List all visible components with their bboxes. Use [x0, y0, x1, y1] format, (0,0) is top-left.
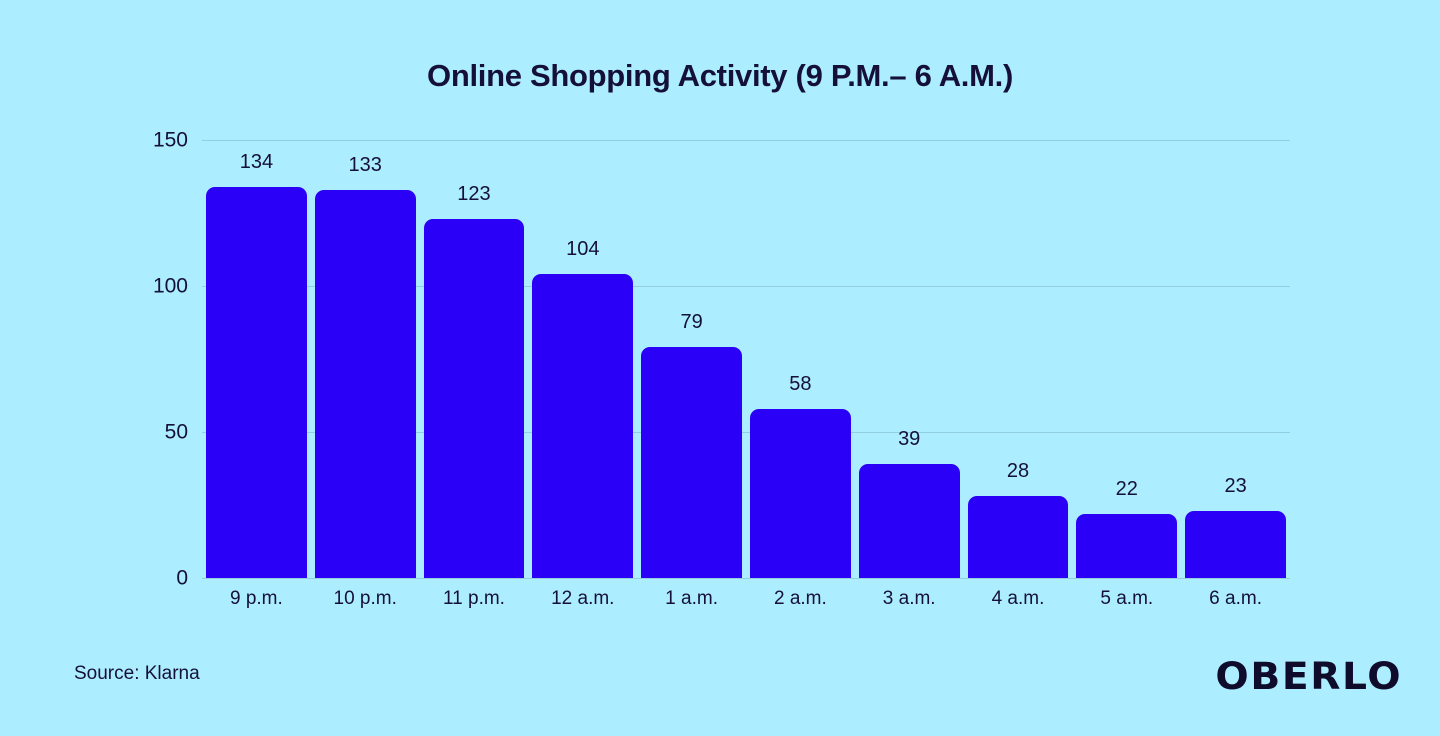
bar-group[interactable]: 123	[424, 140, 525, 578]
bar[interactable]	[1185, 511, 1286, 578]
bar-value-label: 28	[968, 461, 1069, 481]
y-tick-label: 50	[68, 422, 188, 443]
x-tick-label: 12 a.m.	[528, 588, 637, 611]
bar-value-label: 104	[532, 239, 633, 259]
bar-value-label: 123	[424, 184, 525, 204]
chart-title: Online Shopping Activity (9 P.M.– 6 A.M.…	[0, 58, 1440, 94]
x-tick-label: 3 a.m.	[855, 588, 964, 611]
x-tick-label: 4 a.m.	[964, 588, 1073, 611]
bar[interactable]	[424, 219, 525, 578]
x-tick-label: 6 a.m.	[1181, 588, 1290, 611]
bar-value-label: 133	[315, 155, 416, 175]
x-axis: 9 p.m.10 p.m.11 p.m.12 a.m.1 a.m.2 a.m.3…	[202, 588, 1290, 618]
bar-value-label: 39	[859, 429, 960, 449]
bar-value-label: 22	[1076, 479, 1177, 499]
bar[interactable]	[641, 347, 742, 578]
bar-group[interactable]: 22	[1076, 140, 1177, 578]
y-tick-label: 0	[68, 568, 188, 589]
bar[interactable]	[206, 187, 307, 578]
bar[interactable]	[1076, 514, 1177, 578]
bar[interactable]	[532, 274, 633, 578]
bar-value-label: 134	[206, 152, 307, 172]
bar-group[interactable]: 23	[1185, 140, 1286, 578]
x-tick-label: 1 a.m.	[637, 588, 746, 611]
bar-group[interactable]: 79	[641, 140, 742, 578]
bars-layer: 134133123104795839282223	[202, 140, 1290, 578]
bar-group[interactable]: 134	[206, 140, 307, 578]
y-tick-label: 150	[68, 130, 188, 151]
y-tick-label: 100	[68, 276, 188, 297]
x-tick-label: 10 p.m.	[311, 588, 420, 611]
bar-group[interactable]: 58	[750, 140, 851, 578]
chart-figure: Online Shopping Activity (9 P.M.– 6 A.M.…	[0, 0, 1440, 736]
bar-value-label: 23	[1185, 476, 1286, 496]
x-tick-label: 2 a.m.	[746, 588, 855, 611]
oberlo-logo: OBERLO	[1215, 655, 1402, 698]
bar-value-label: 58	[750, 374, 851, 394]
bar-group[interactable]: 133	[315, 140, 416, 578]
bar[interactable]	[968, 496, 1069, 578]
source-note: Source: Klarna	[74, 663, 200, 685]
bar[interactable]	[750, 409, 851, 578]
x-tick-label: 5 a.m.	[1072, 588, 1181, 611]
bar-value-label: 79	[641, 312, 742, 332]
bar-group[interactable]: 39	[859, 140, 960, 578]
x-tick-label: 9 p.m.	[202, 588, 311, 611]
axis-baseline	[202, 578, 1290, 579]
bar[interactable]	[315, 190, 416, 578]
bar-group[interactable]: 28	[968, 140, 1069, 578]
x-tick-label: 11 p.m.	[420, 588, 529, 611]
bar-group[interactable]: 104	[532, 140, 633, 578]
bar[interactable]	[859, 464, 960, 578]
